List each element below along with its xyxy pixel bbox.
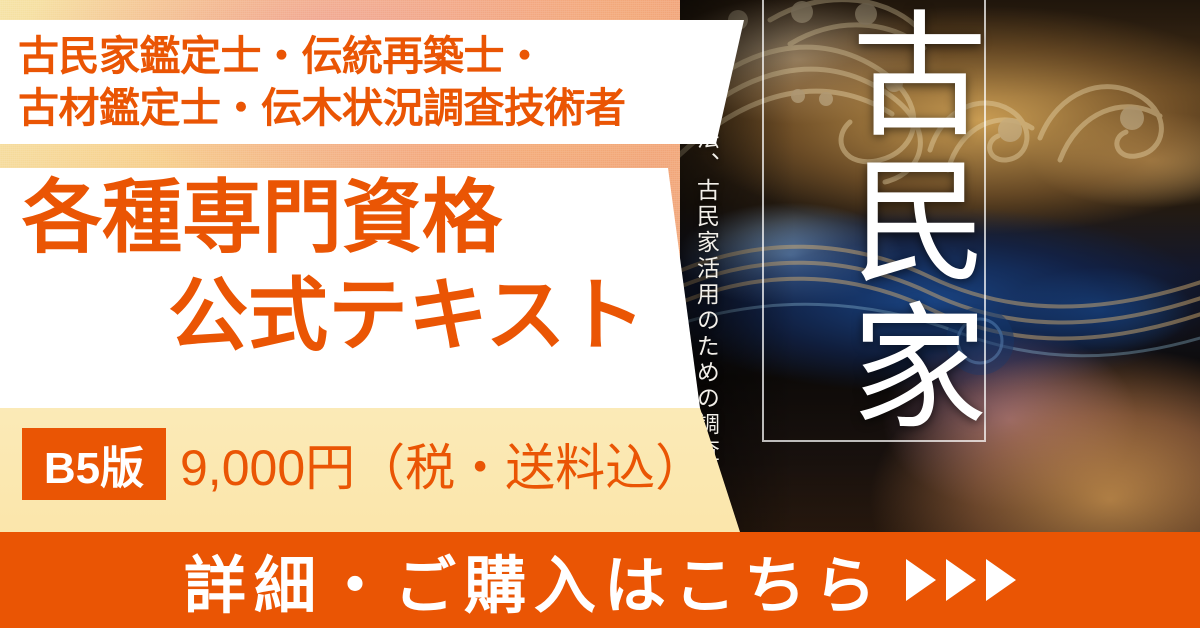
cta-arrows <box>906 559 1016 601</box>
format-badge-b5: B5版 <box>22 428 166 500</box>
main-headline-line-2: 公式テキスト <box>168 276 646 356</box>
cover-title-text: 古民家 <box>768 8 976 438</box>
qualifications-line-1: 古民家鑑定士・伝統再築士・ <box>18 30 744 82</box>
main-headline-panel: 各種専門資格 公式テキスト <box>0 168 700 408</box>
price-label: 9,000円（税・送料込） <box>180 428 705 500</box>
price-band: B5版 9,000円（税・送料込） <box>0 408 740 532</box>
cta-bar[interactable]: 詳細・ご購入はこちら <box>0 532 1200 628</box>
play-arrow-icon <box>946 559 976 601</box>
play-arrow-icon <box>986 559 1016 601</box>
main-headline-line-1: 各種専門資格 <box>22 178 502 258</box>
book-cover-image: 古民家 伝統構法、古民家活用のための調査と再生の <box>680 0 1200 540</box>
qualifications-line-2: 古材鑑定士・伝木状況調査技術者 <box>18 82 744 134</box>
cta-label: 詳細・ご購入はこちら <box>184 535 884 625</box>
qualifications-panel: 古民家鑑定士・伝統再築士・ 古材鑑定士・伝木状況調査技術者 <box>0 20 744 144</box>
play-arrow-icon <box>906 559 936 601</box>
promo-banner: 古民家 伝統構法、古民家活用のための調査と再生の 古民家鑑定士・伝統再築士・ 古… <box>0 0 1200 628</box>
